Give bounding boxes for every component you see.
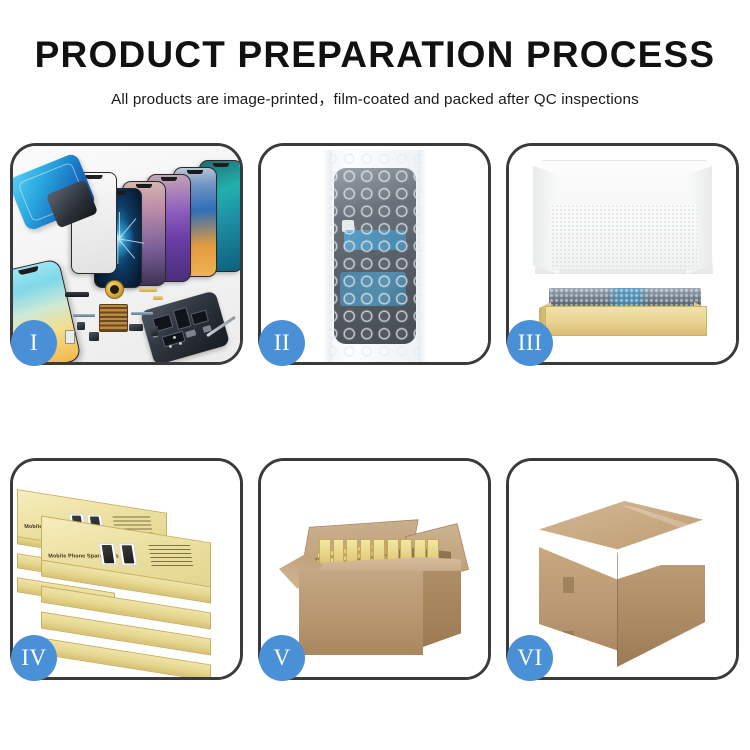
step-badge-4: IV bbox=[11, 635, 57, 681]
step-panel-6[interactable]: VI bbox=[506, 458, 739, 680]
carton-front-panel bbox=[299, 571, 423, 655]
connector-grid-icon bbox=[99, 304, 128, 332]
bubble-highlights bbox=[323, 150, 427, 362]
step-badge-6: VI bbox=[507, 635, 553, 681]
step-badge-2: II bbox=[259, 320, 305, 366]
battery-connector-icon bbox=[151, 326, 158, 336]
step-badge-1: I bbox=[11, 320, 57, 366]
volume-flex-icon bbox=[153, 296, 163, 300]
box-window bbox=[118, 543, 137, 565]
step-badge-3: III bbox=[507, 320, 553, 366]
page-subtitle: All products are image-printed，film-coat… bbox=[0, 87, 750, 109]
ribbon-cable-icon bbox=[73, 314, 95, 317]
sim-tray-icon bbox=[65, 330, 75, 344]
mailer-front-panel bbox=[545, 306, 707, 336]
screw-icon bbox=[179, 342, 182, 345]
carton-left-face bbox=[539, 547, 619, 651]
foam-liner bbox=[551, 204, 697, 270]
carton-top-face bbox=[539, 501, 703, 563]
vibration-motor-icon bbox=[105, 280, 124, 299]
process-steps-grid: I II bbox=[10, 143, 740, 680]
carton-vertical-seam bbox=[617, 553, 618, 661]
carton-side-panel bbox=[423, 571, 461, 647]
carton-right-face bbox=[617, 565, 705, 667]
ic-chip-icon bbox=[77, 322, 85, 330]
box-window bbox=[98, 543, 117, 565]
step-panel-4[interactable]: Mobile Phone Spare Parts Mobile Phone Sp… bbox=[10, 458, 243, 680]
step-badge-5: V bbox=[259, 635, 305, 681]
box-spec-lines bbox=[148, 545, 193, 569]
speaker-mesh-icon bbox=[65, 292, 89, 297]
sleeve-edge-left bbox=[323, 150, 332, 362]
step-panel-3[interactable]: III bbox=[506, 143, 739, 365]
page-header: PRODUCT PREPARATION PROCESS All products… bbox=[0, 0, 750, 109]
step-panel-1[interactable]: I bbox=[10, 143, 243, 365]
power-flex-icon bbox=[139, 288, 157, 292]
screw-icon bbox=[169, 345, 172, 348]
spare-parts-cluster bbox=[65, 278, 195, 358]
step-panel-2[interactable]: II bbox=[258, 143, 491, 365]
screw-icon bbox=[173, 336, 176, 339]
earpiece-icon bbox=[89, 332, 99, 341]
sleeve-edge-right bbox=[418, 150, 427, 362]
step-panel-5[interactable]: V bbox=[258, 458, 491, 680]
camera-module-icon bbox=[129, 324, 143, 331]
antenna-cable-icon bbox=[131, 312, 153, 315]
page-title: PRODUCT PREPARATION PROCESS bbox=[0, 36, 750, 75]
